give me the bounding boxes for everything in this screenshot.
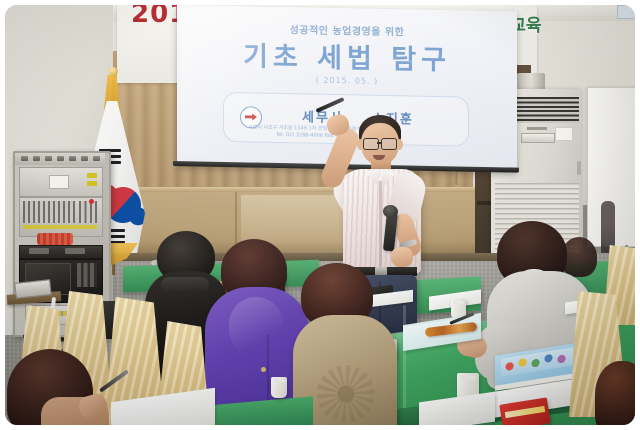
mixer-label-strip [23,225,97,229]
rack-indicator-led [87,173,97,178]
mixer-knob-array [79,201,97,223]
rack-unit-display [49,175,69,189]
exit-sign [617,5,635,19]
rack-knob [33,156,40,161]
glasses-icon [363,138,379,150]
audience-right-edge-partial [595,361,635,425]
slide-title: 기초 세법 탐구 [243,34,451,77]
rack-knob [81,156,88,161]
seminar-photo-scene: 201 향상을 위한 회계 교육 송스퍼레스 관광호텔 사단법인 한국여성농업인… [5,5,635,425]
patch-cables [37,233,73,245]
air-conditioner-display [521,133,555,143]
presenter-mic-hand [391,247,413,267]
rack-knob [21,156,28,161]
paper-cup [407,307,420,324]
tablecloth-fold [403,305,406,417]
air-conditioner-label [555,127,573,141]
air-conditioner-handle [577,161,581,175]
slide-date: ( 2015. 05. ) [316,76,379,86]
presenter-shirt-placket [379,181,382,267]
rack-unit-tray [29,248,49,254]
jacket-highlight [161,277,209,293]
air-conditioner-brand [527,127,547,130]
glasses-bridge [377,142,381,144]
fabric-pattern [317,365,375,423]
rack-indicator-led [87,181,97,186]
rack-knob [93,156,100,161]
jacket-button [261,367,266,372]
rack-knob [45,156,52,161]
photo-frame: 201 향상을 위한 회계 교육 송스퍼레스 관광호텔 사단법인 한국여성농업인… [0,0,640,430]
mixer-knob-array [23,201,75,223]
mixer-power-led [89,199,94,204]
rack-controller-keypad [77,263,97,287]
paper-cup [271,377,287,398]
rack-unit-tray [65,248,85,254]
jacket-highlight [229,297,283,357]
rack-knob [57,156,64,161]
presenter-ear [396,139,403,150]
rack-knob [69,156,76,161]
glasses-icon [381,138,397,150]
